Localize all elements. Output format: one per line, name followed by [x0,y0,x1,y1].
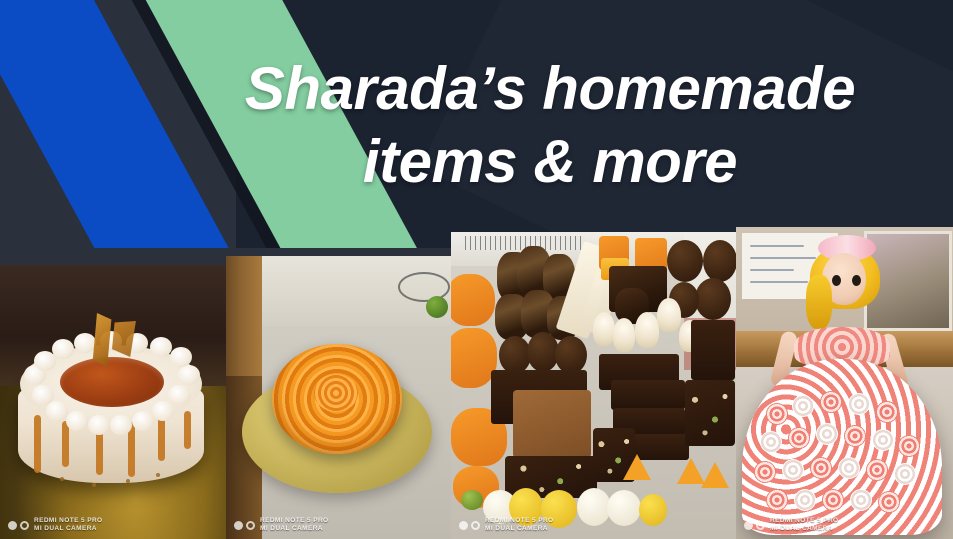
photo-4-image [736,227,953,539]
photo-orange-rose-pastry: REDMI NOTE 5 PRO MI DUAL CAMERA [226,256,451,539]
title-slide: Sharada’s homemade items & more [0,0,953,539]
camera-watermark: REDMI NOTE 5 PRO MI DUAL CAMERA [459,517,554,533]
photo-assorted-chocolates: REDMI NOTE 5 PRO MI DUAL CAMERA [451,232,736,539]
photo-caramel-cream-cake: REDMI NOTE 5 PRO MI DUAL CAMERA [0,265,226,539]
watermark-line-1: REDMI NOTE 5 PRO [260,517,329,524]
photo-3-image [451,232,736,539]
title-line-1: Sharada’s homemade [170,52,930,125]
watermark-line-1: REDMI NOTE 5 PRO [34,517,103,524]
page-title: Sharada’s homemade items & more [170,52,930,198]
camera-lens-icon [234,521,255,530]
camera-watermark: REDMI NOTE 5 PRO MI DUAL CAMERA [8,517,103,533]
watermark-line-2: MI DUAL CAMERA [34,525,97,532]
camera-watermark: REDMI NOTE 5 PRO MI DUAL CAMERA [234,517,329,533]
photo-2-image [226,256,451,539]
watermark-line-2: MI DUAL CAMERA [485,525,548,532]
camera-lens-icon [744,521,765,530]
title-line-2: items & more [170,125,930,198]
photo-doll-cake: REDMI NOTE 5 PRO MI DUAL CAMERA [736,227,953,539]
watermark-line-1: REDMI NOTE 5 PRO [485,517,554,524]
camera-watermark: REDMI NOTE 5 PRO MI DUAL CAMERA [744,517,839,533]
watermark-line-1: REDMI NOTE 5 PRO [770,517,839,524]
camera-lens-icon [8,521,29,530]
camera-lens-icon [459,521,480,530]
watermark-line-2: MI DUAL CAMERA [770,525,833,532]
watermark-line-2: MI DUAL CAMERA [260,525,323,532]
photo-1-image [0,265,226,539]
